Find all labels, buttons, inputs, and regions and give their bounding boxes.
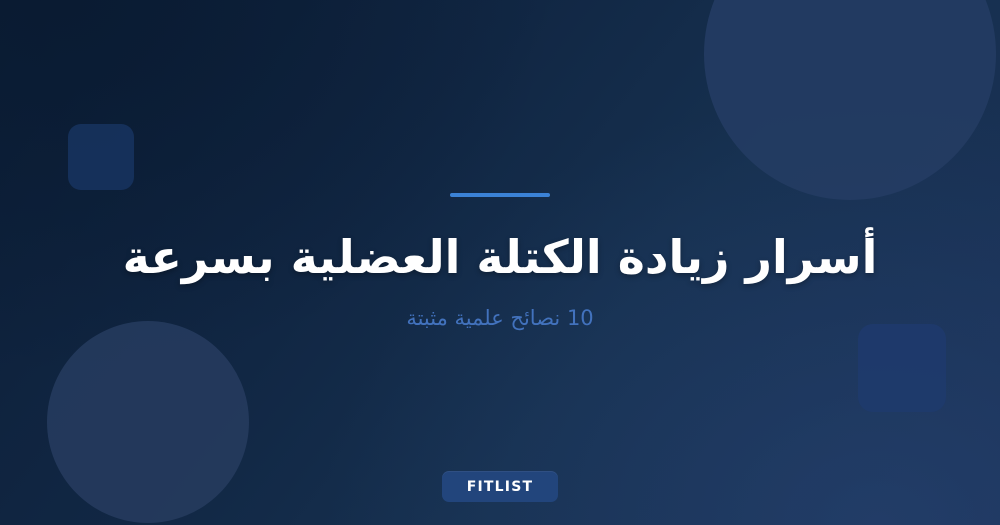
brand-badge-label: FITLIST: [467, 479, 534, 495]
poster-title: أسرار زيادة الكتلة العضلية بسرعة: [123, 229, 878, 287]
poster-content: أسرار زيادة الكتلة العضلية بسرعة 10 نصائ…: [0, 0, 1000, 525]
poster-canvas: أسرار زيادة الكتلة العضلية بسرعة 10 نصائ…: [0, 0, 1000, 525]
brand-badge: FITLIST: [442, 471, 558, 502]
poster-subtitle: 10 نصائح علمية مثبتة: [406, 305, 593, 332]
accent-divider-line: [450, 193, 550, 197]
